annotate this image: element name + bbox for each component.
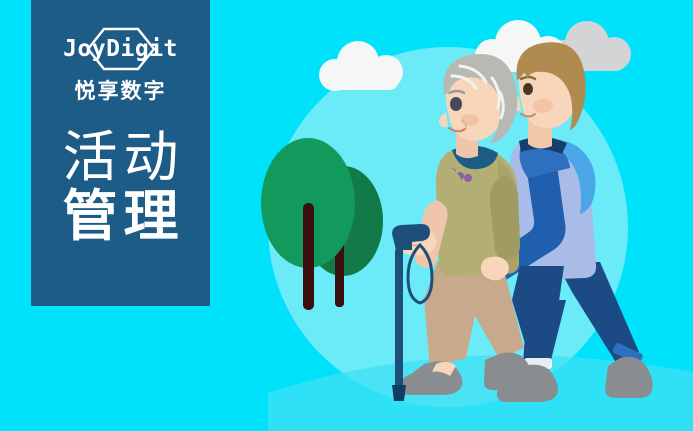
title-panel: JoyDigit 悦享数字 活动 管理 xyxy=(31,0,210,306)
brand-logo: JoyDigit xyxy=(47,26,195,72)
elderly-woman-cheek xyxy=(461,114,479,126)
page-title: 活动 管理 xyxy=(56,128,184,247)
page-title-line-1: 活动 xyxy=(56,128,184,187)
cane-shaft xyxy=(395,248,403,388)
cane-tip xyxy=(392,385,406,401)
young-man-cheek xyxy=(533,99,553,113)
elderly-woman-eye xyxy=(450,97,462,111)
brand-block: JoyDigit 悦享数字 xyxy=(47,26,195,102)
page-title-line-2: 管理 xyxy=(56,187,184,246)
young-man-eye xyxy=(523,83,533,95)
brand-wordmark: JoyDigit xyxy=(63,38,178,61)
brand-chinese-name: 悦享数字 xyxy=(75,81,167,102)
poster-canvas: JoyDigit 悦享数字 活动 管理 xyxy=(0,0,693,431)
